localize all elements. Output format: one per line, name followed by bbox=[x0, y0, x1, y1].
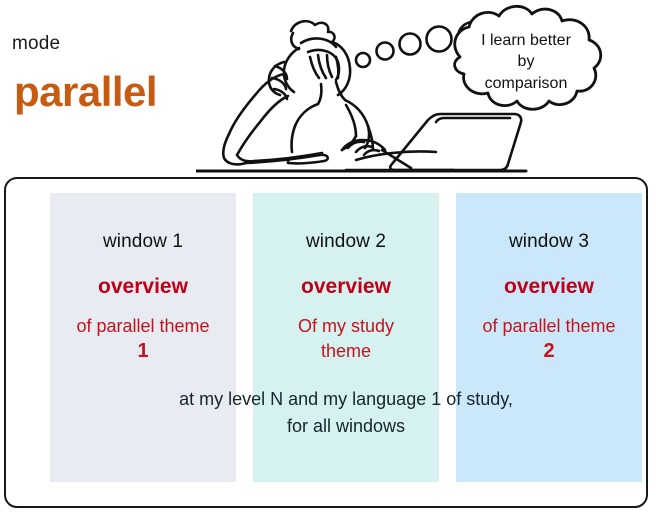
window-3-subtitle-line-1: of parallel theme bbox=[482, 316, 615, 336]
windows-panel: window 1 overview of parallel theme 1 wi… bbox=[4, 177, 648, 508]
person-thinking-at-laptop-illustration: I learn better by comparison bbox=[196, 0, 656, 176]
window-column-3[interactable]: window 3 overview of parallel theme 2 bbox=[456, 193, 642, 482]
window-1-subtitle-line-2: 1 bbox=[137, 340, 148, 362]
window-2-subtitle: Of my study theme bbox=[253, 314, 439, 364]
thought-bubble-line-3: comparison bbox=[485, 75, 568, 92]
mode-label: mode bbox=[12, 33, 60, 55]
window-3-overview-heading: overview bbox=[456, 275, 642, 299]
window-1-subtitle-line-1: of parallel theme bbox=[76, 316, 209, 336]
window-3-title: window 3 bbox=[456, 231, 642, 253]
window-3-subtitle: of parallel theme 2 bbox=[456, 314, 642, 364]
window-1-overview-heading: overview bbox=[50, 275, 236, 299]
window-2-overview-heading: overview bbox=[253, 275, 439, 299]
thought-bubble-line-1: I learn better bbox=[481, 32, 572, 49]
mode-value: parallel bbox=[14, 68, 157, 116]
window-2-subtitle-line-2: theme bbox=[321, 341, 371, 361]
window-3-subtitle-line-2: 2 bbox=[543, 340, 554, 362]
window-1-subtitle: of parallel theme 1 bbox=[50, 314, 236, 364]
window-2-title: window 2 bbox=[253, 231, 439, 253]
thought-bubble-line-2: by bbox=[518, 53, 535, 70]
window-column-1[interactable]: window 1 overview of parallel theme 1 bbox=[50, 193, 236, 482]
header: mode parallel bbox=[0, 0, 656, 176]
window-column-2[interactable]: window 2 overview Of my study theme bbox=[253, 193, 439, 482]
window-2-subtitle-line-1: Of my study bbox=[298, 316, 394, 336]
window-1-title: window 1 bbox=[50, 231, 236, 253]
windows-row: window 1 overview of parallel theme 1 wi… bbox=[50, 193, 642, 482]
